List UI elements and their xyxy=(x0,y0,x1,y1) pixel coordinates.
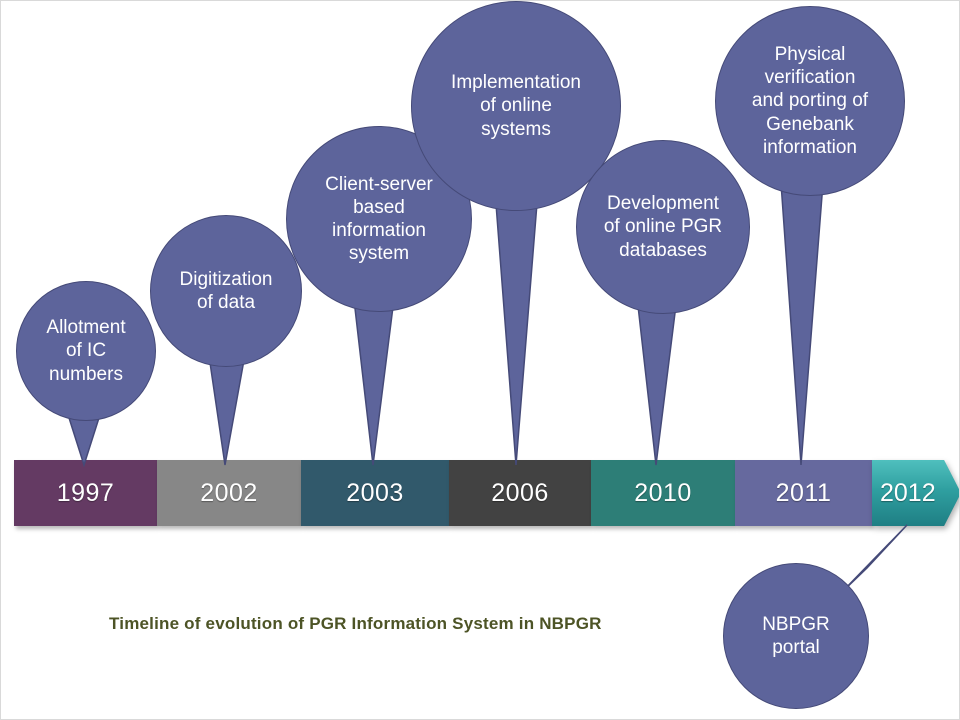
callout-digitization-of-data[interactable]: Digitizationof data xyxy=(150,215,302,367)
callout-text: Implementationof onlinesystems xyxy=(412,71,620,141)
tail-client-server-based-information-system xyxy=(353,291,395,465)
timeline-diagram: Allotmentof ICnumbers Digitizationof dat… xyxy=(0,0,960,720)
callout-text: Physicalverificationand porting ofGeneba… xyxy=(716,43,904,159)
callout-text: Client-serverbasedinformationsystem xyxy=(287,173,471,266)
callout-text: Digitizationof data xyxy=(151,268,301,314)
callout-text: Allotmentof ICnumbers xyxy=(17,316,155,386)
callout-text: NBPGRportal xyxy=(724,613,868,659)
callout-text: Developmentof online PGRdatabases xyxy=(577,192,749,262)
callout-nbpgr-portal[interactable]: NBPGRportal xyxy=(723,563,869,709)
callout-development-of-online-pgr-databases[interactable]: Developmentof online PGRdatabases xyxy=(576,140,750,314)
callout-allotment-of-ic-numbers[interactable]: Allotmentof ICnumbers xyxy=(16,281,156,421)
tail-implementation-of-online-systems xyxy=(495,191,538,465)
tail-nbpgr-portal xyxy=(839,525,907,595)
tail-physical-verification-and-porting-of-genebank-information xyxy=(781,183,823,465)
tail-development-of-online-pgr-databases xyxy=(637,297,677,465)
callout-physical-verification-and-porting-of-genebank-information[interactable]: Physicalverificationand porting ofGeneba… xyxy=(715,6,905,196)
